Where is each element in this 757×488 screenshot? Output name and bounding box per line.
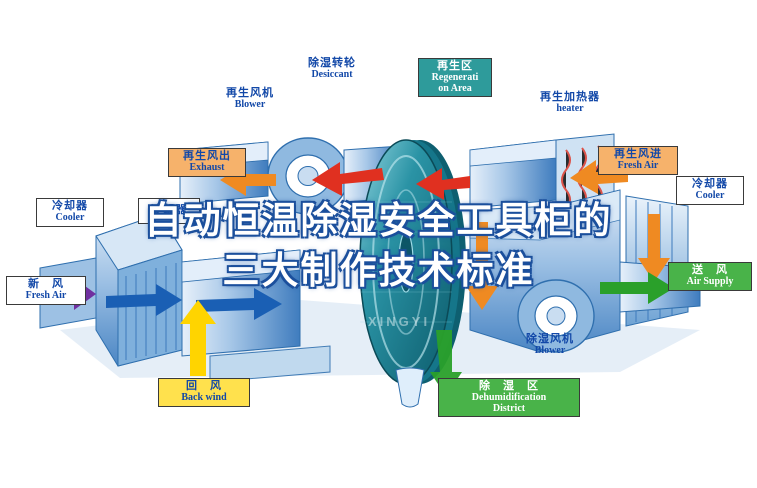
label-fresh-air-en: Fresh Air <box>12 291 80 302</box>
label-cooler-mid: 冷却器 <box>138 198 200 224</box>
label-dehumidification-district: 除 湿 区 Dehumidification District <box>438 378 580 417</box>
label-regeneration-exhaust-en: Exhaust <box>174 163 240 174</box>
label-cooler-mid-cn: 冷却器 <box>144 205 194 217</box>
label-regeneration-heater: 再生加热器 heater <box>520 92 620 115</box>
dehumidifier-schematic-illustration <box>0 0 757 488</box>
label-air-supply-en: Air Supply <box>674 277 746 288</box>
label-regeneration-area-en: Regenerati on Area <box>424 73 486 95</box>
label-desiccant-wheel: 除湿转轮 Desiccant <box>286 58 378 81</box>
label-back-wind: 回 风 Back wind <box>158 378 250 407</box>
label-regeneration-exhaust: 再生风出 Exhaust <box>168 148 246 177</box>
label-regeneration-blower-en: Blower <box>206 100 294 111</box>
label-regeneration-heater-en: heater <box>520 104 620 115</box>
label-back-wind-en: Back wind <box>164 393 244 404</box>
label-dehumidify-blower-en: Blower <box>504 346 596 357</box>
label-cooler-right: 冷却器 Cooler <box>676 176 744 205</box>
label-desiccant-wheel-en: Desiccant <box>286 70 378 81</box>
label-dehumidify-blower: 除湿风机 Blower <box>504 334 596 357</box>
label-cooler-left-en: Cooler <box>42 213 98 224</box>
label-regeneration-fresh-air: 再生风进 Fresh Air <box>598 146 678 175</box>
watermark: XINGYI <box>368 314 430 329</box>
label-regeneration-area: 再生区 Regenerati on Area <box>418 58 492 97</box>
diagram-canvas: XINGYI 除湿转轮 Desiccant 再生区 Regenerati on … <box>0 0 757 488</box>
label-cooler-left: 冷却器 Cooler <box>36 198 104 227</box>
label-air-supply: 送 风 Air Supply <box>668 262 752 291</box>
label-regeneration-fresh-air-en: Fresh Air <box>604 161 672 172</box>
label-cooler-right-en: Cooler <box>682 191 738 202</box>
label-dehumidification-district-en: Dehumidification District <box>444 393 574 415</box>
label-regeneration-blower: 再生风机 Blower <box>206 88 294 111</box>
label-fresh-air: 新 风 Fresh Air <box>6 276 86 305</box>
